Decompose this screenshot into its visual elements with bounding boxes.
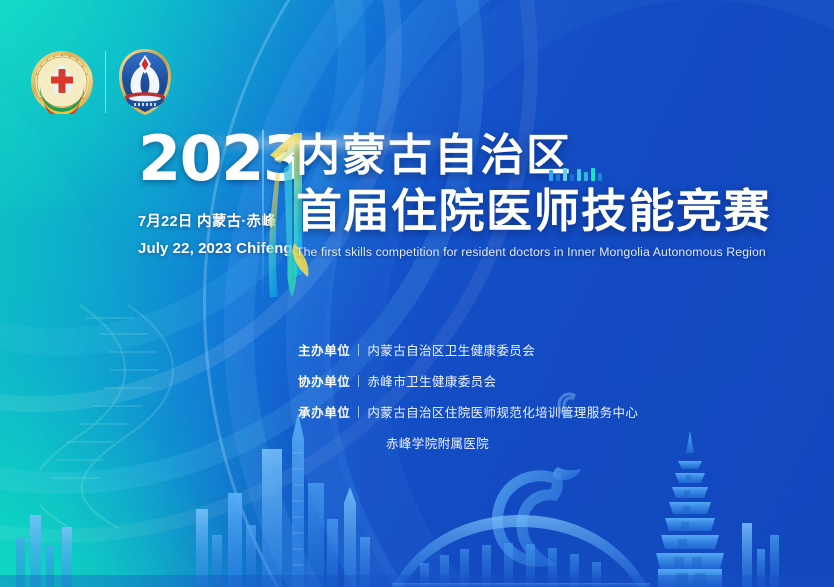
organizer-list: 主办单位 内蒙古自治区卫生健康委员会 协办单位 赤峰市卫生健康委员会 承办单位 … [298, 340, 768, 452]
decorative-bar-4 [577, 169, 581, 181]
organizer-row-0: 主办单位 内蒙古自治区卫生健康委员会 [298, 340, 768, 359]
title-block: 内蒙古自治区 首届住院医师技能竞赛 The first skills compe… [296, 133, 766, 259]
organizer-label: 承办单位 [298, 402, 350, 421]
poster-banner: 2023 7月22日 内蒙古·赤峰 July 22, 2023 Chifeng [0, 0, 834, 587]
decorative-bar-3 [570, 174, 574, 181]
organizer-value: 内蒙古自治区卫生健康委员会 [367, 340, 535, 359]
date-chinese: 7月22日 内蒙古·赤峰 [138, 210, 258, 231]
emblem-divider [105, 51, 106, 113]
year-text: 2023 [138, 128, 258, 190]
inner-mongolia-medical-emblem [117, 48, 173, 116]
jade-dragon-small-icon [554, 389, 584, 419]
date-english: July 22, 2023 Chifeng [138, 240, 258, 257]
organizer-row-1: 协办单位 赤峰市卫生健康委员会 [298, 371, 768, 390]
decorative-bar-5 [584, 172, 588, 181]
decorative-bar-2 [563, 168, 567, 181]
emblem-group [30, 48, 173, 116]
organizer-label: 协办单位 [298, 371, 350, 390]
organizer-separator [358, 344, 359, 356]
title-line-2: 首届住院医师技能竞赛 [296, 187, 766, 236]
title-line-1: 内蒙古自治区 [296, 133, 766, 180]
organizer-value: 赤峰市卫生健康委员会 [367, 371, 496, 390]
organizer-label: 主办单位 [298, 340, 350, 359]
jade-dragon-icon [482, 457, 602, 577]
organizer-row-2: 承办单位 内蒙古自治区住院医师规范化培训管理服务中心 [298, 402, 768, 421]
organizer-extra-line: 赤峰学院附属医院 [298, 433, 768, 452]
decorative-bar-0 [549, 170, 553, 181]
decorative-bar-7 [598, 173, 602, 181]
title-subtitle-english: The first skills competition for residen… [296, 245, 766, 259]
decorative-bar-1 [556, 173, 560, 181]
year-date-block: 2023 7月22日 内蒙古·赤峰 July 22, 2023 Chifeng [138, 128, 258, 257]
decorative-bars [549, 167, 602, 181]
organizer-separator [358, 375, 359, 387]
organizer-value: 内蒙古自治区住院医师规范化培训管理服务中心 [367, 402, 638, 421]
dna-helix-icon [40, 300, 210, 530]
decorative-bar-6 [591, 168, 595, 181]
organizer-separator [358, 406, 359, 418]
china-health-commission-emblem [30, 50, 94, 114]
